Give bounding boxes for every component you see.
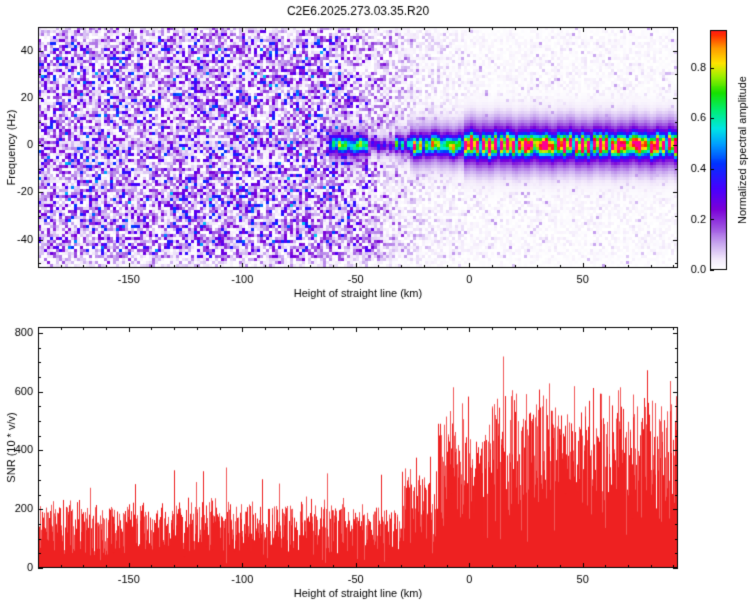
- figure-container: C2E6.2025.273.03.35.R20 Height of straig…: [0, 0, 750, 600]
- scientific-figure-canvas: [0, 0, 750, 600]
